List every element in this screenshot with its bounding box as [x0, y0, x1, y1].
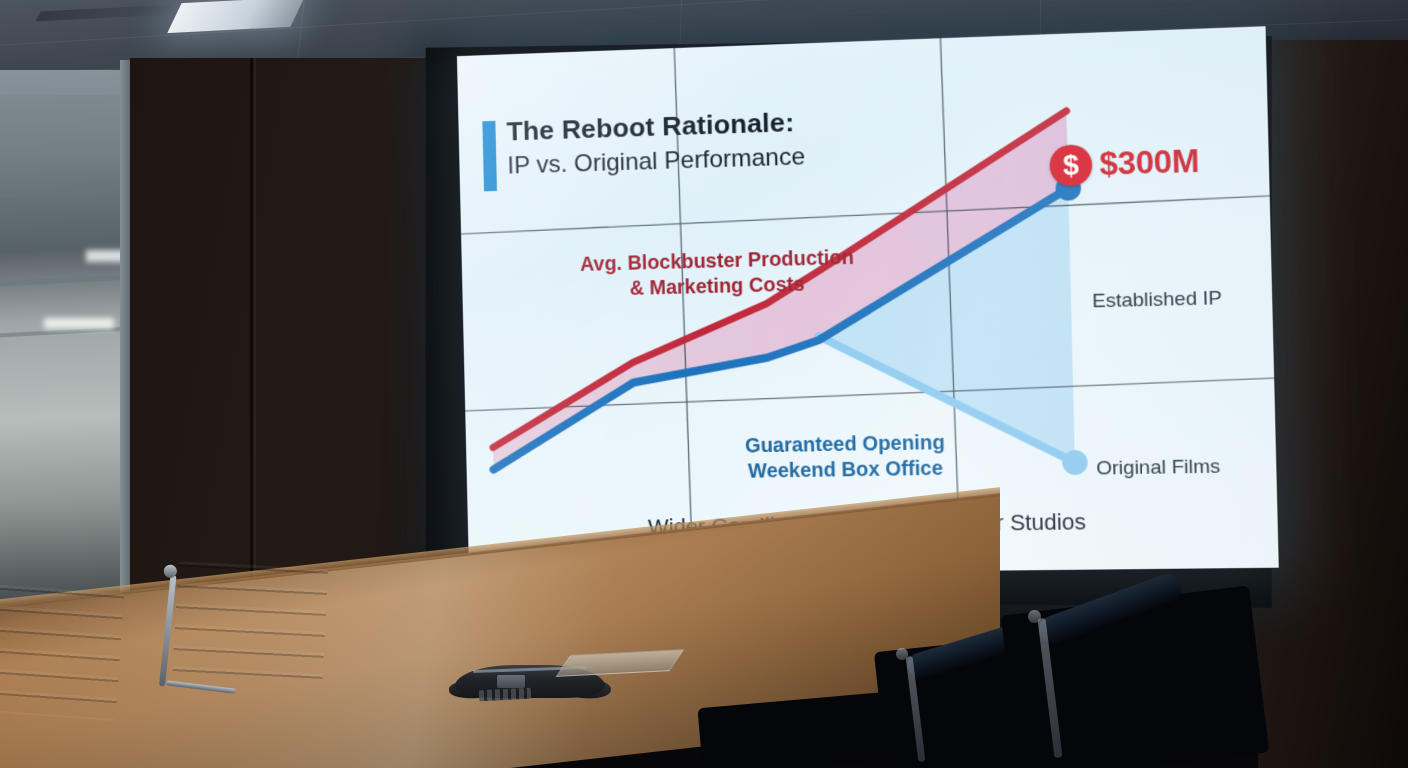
dollar-coin-icon: $ — [1049, 144, 1092, 187]
phone-display — [497, 675, 525, 688]
series-label-box-office: Guaranteed Opening Weekend Box Office — [745, 431, 946, 485]
conference-room-scene: The Reboot Rationale: IP vs. Original Pe… — [0, 0, 1408, 768]
series-label-box-office-line2: Weekend Box Office — [745, 456, 945, 485]
legend-original-films: Original Films — [1096, 456, 1221, 481]
phone-keypad[interactable] — [479, 688, 532, 702]
chair-left-1 — [0, 583, 124, 721]
value-callout: $ $300M — [1049, 141, 1199, 187]
right-wall-panel — [1258, 40, 1408, 768]
presentation-slide: The Reboot Rationale: IP vs. Original Pe… — [457, 26, 1279, 576]
series-label-costs: Avg. Blockbuster Production & Marketing … — [580, 246, 855, 304]
video-wall-screen[interactable]: The Reboot Rationale: IP vs. Original Pe… — [457, 26, 1279, 576]
reflected-light-2 — [44, 318, 114, 329]
ceiling-fixture-dark — [36, 5, 175, 22]
series-label-box-office-line1: Guaranteed Opening — [745, 431, 945, 460]
legend-established-ip: Established IP — [1092, 288, 1222, 314]
title-accent-bar — [482, 121, 497, 191]
chair-left-2 — [172, 561, 328, 694]
callout-value: $300M — [1099, 143, 1200, 183]
dollar-glyph: $ — [1063, 151, 1080, 179]
